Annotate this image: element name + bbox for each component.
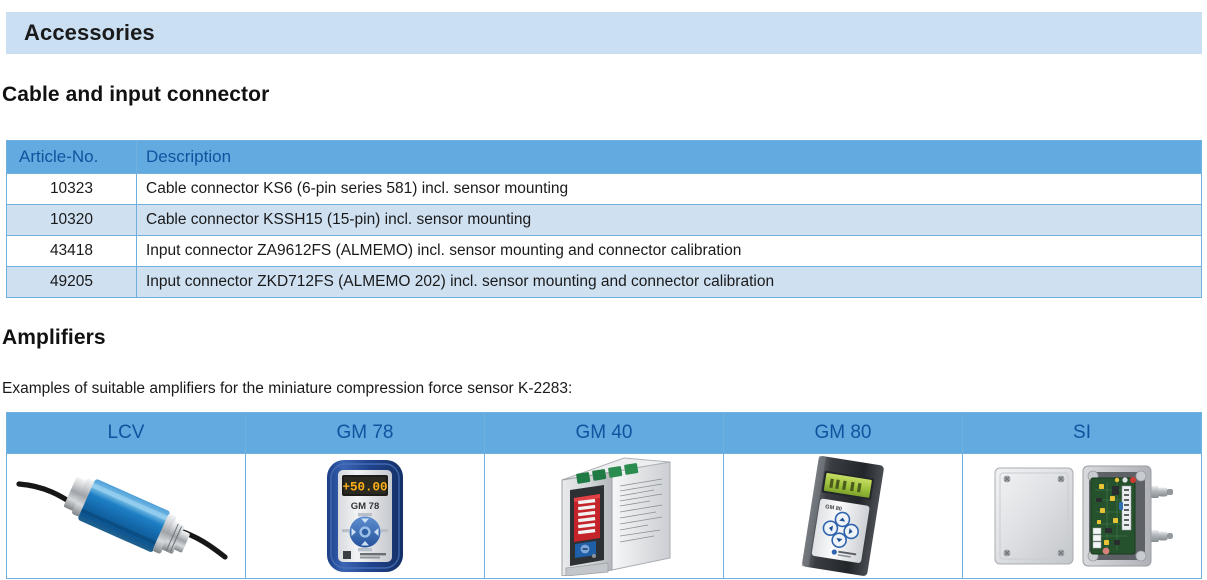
cell-article-no: 10320 — [7, 205, 137, 236]
amplifier-header-row: LCV GM 78 GM 40 GM 80 SI — [7, 413, 1202, 454]
table-header-row: Article-No. Description — [7, 141, 1202, 174]
cell-article-no: 10323 — [7, 174, 137, 205]
amplifiers-intro-text: Examples of suitable amplifiers for the … — [2, 380, 572, 398]
column-header-gm40: GM 40 — [485, 413, 724, 454]
gm40-din-rail-module-photo — [485, 454, 723, 578]
cell-lcv-image — [7, 454, 246, 579]
heading-amplifiers: Amplifiers — [2, 326, 106, 350]
gm78-display-value: +50.00 — [342, 481, 387, 495]
si-enclosure-lid — [995, 468, 1073, 564]
cell-description: Cable connector KS6 (6-pin series 581) i… — [137, 174, 1202, 205]
gm78-device-label: GM 78 — [351, 501, 380, 512]
column-header-article-no: Article-No. — [7, 141, 137, 174]
cable-connector-table: Article-No. Description 10323 Cable conn… — [6, 140, 1202, 298]
amplifier-image-row: +50.00 GM 78 — [7, 454, 1202, 579]
page-title: Accessories — [6, 20, 155, 46]
column-header-gm80: GM 80 — [724, 413, 963, 454]
cell-si-image — [963, 454, 1202, 579]
heading-cable-and-input-connector: Cable and input connector — [2, 83, 269, 107]
cell-gm78-image: +50.00 GM 78 — [246, 454, 485, 579]
table-row: 10320 Cable connector KSSH15 (15-pin) in… — [7, 205, 1202, 236]
section-banner: Accessories — [6, 12, 1202, 54]
table-row: 10323 Cable connector KS6 (6-pin series … — [7, 174, 1202, 205]
si-enclosure-pcb-photo — [963, 454, 1201, 578]
column-header-si: SI — [963, 413, 1202, 454]
column-header-description: Description — [137, 141, 1202, 174]
cell-article-no: 43418 — [7, 236, 137, 267]
column-header-gm78: GM 78 — [246, 413, 485, 454]
column-header-lcv: LCV — [7, 413, 246, 454]
lcv-inline-amplifier-photo — [7, 454, 245, 578]
table-row: 43418 Input connector ZA9612FS (ALMEMO) … — [7, 236, 1202, 267]
amplifier-gallery-table: LCV GM 78 GM 40 GM 80 SI — [6, 412, 1202, 579]
cell-gm80-image: GM 80 — [724, 454, 963, 579]
cell-description: Input connector ZKD712FS (ALMEMO 202) in… — [137, 267, 1202, 298]
cell-description: Input connector ZA9612FS (ALMEMO) incl. … — [137, 236, 1202, 267]
table-row: 49205 Input connector ZKD712FS (ALMEMO 2… — [7, 267, 1202, 298]
si-open-enclosure-with-pcb — [1083, 466, 1173, 566]
cell-article-no: 49205 — [7, 267, 137, 298]
gm80-handheld-meter-photo: GM 80 — [724, 454, 962, 578]
cell-gm40-image — [485, 454, 724, 579]
gm78-handheld-meter-photo: +50.00 GM 78 — [246, 454, 484, 578]
cell-description: Cable connector KSSH15 (15-pin) incl. se… — [137, 205, 1202, 236]
